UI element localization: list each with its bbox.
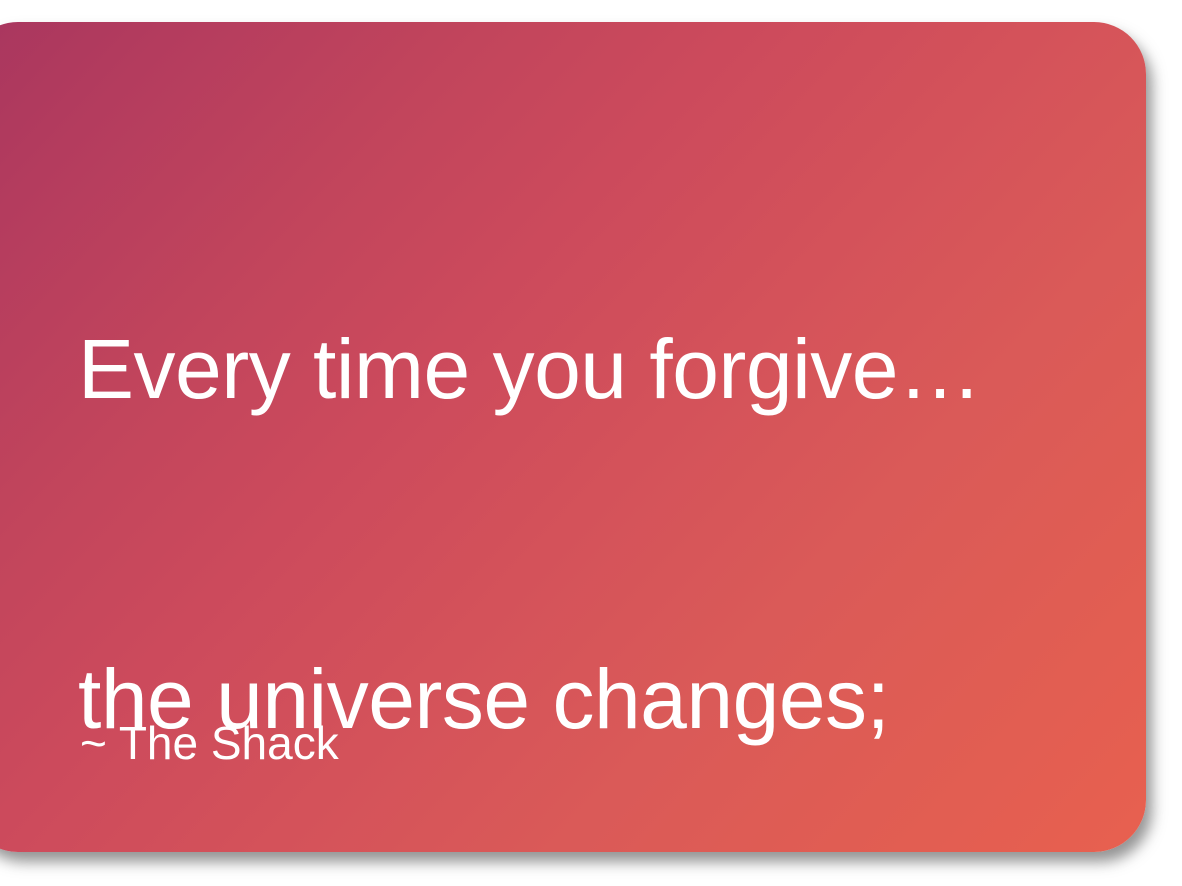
quote-card: Every time you forgive… the universe cha… (0, 22, 1146, 852)
screenshot-canvas: Every time you forgive… the universe cha… (0, 0, 1182, 886)
quote-line-1: Every time you forgive… (78, 314, 1088, 424)
quote-attribution: ~ The Shack (80, 712, 339, 774)
quote-card-content: Every time you forgive… the universe cha… (78, 22, 1146, 852)
